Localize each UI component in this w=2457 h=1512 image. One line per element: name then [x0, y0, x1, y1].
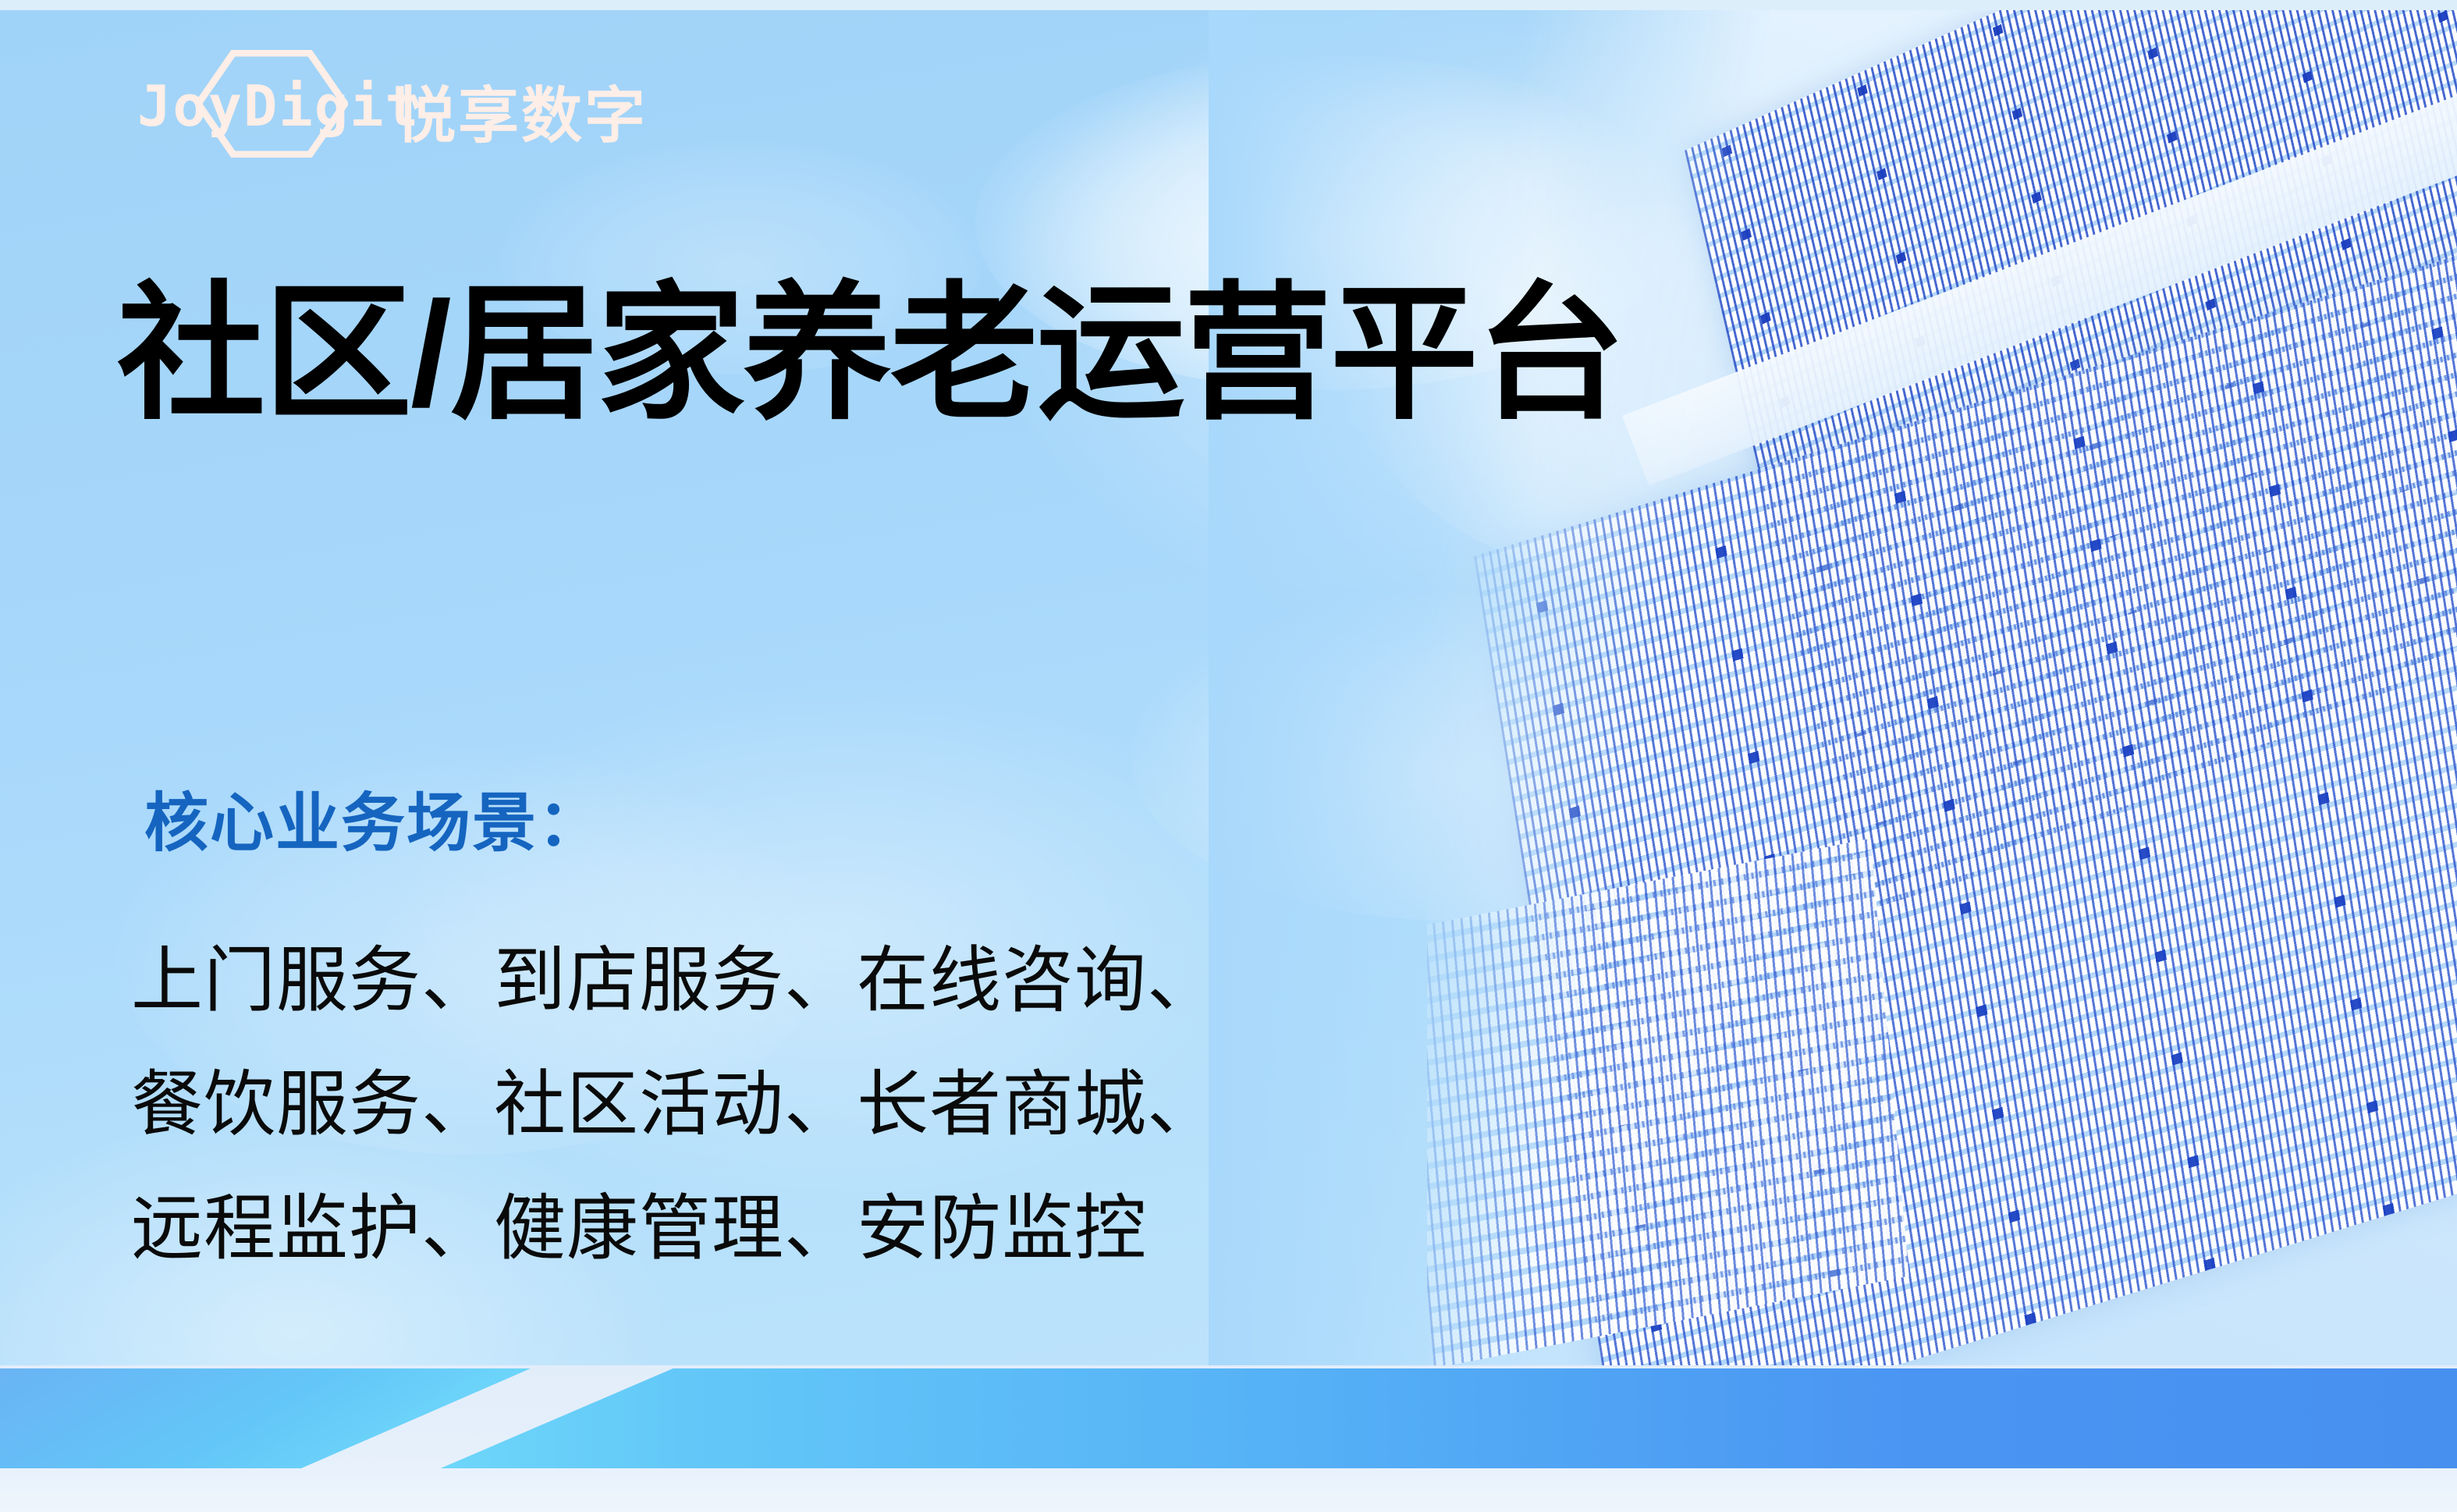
- scenario-line: 远程监护、健康管理、安防监控: [131, 1167, 1220, 1291]
- logo-latin-text: JoyDigit: [137, 73, 421, 139]
- logo-chinese-text: 悦享数字: [395, 67, 648, 154]
- building-photo: [1427, 10, 2457, 1372]
- scenario-line: 上门服务、到店服务、在线咨询、: [131, 919, 1220, 1043]
- brand-logo[interactable]: JoyDigit 悦享数字: [137, 61, 668, 148]
- footer-band-main: [343, 1368, 2457, 1468]
- scenario-list: 上门服务、到店服务、在线咨询、 餐饮服务、社区活动、长者商城、 远程监护、健康管…: [131, 919, 1220, 1291]
- top-edge-strip: [0, 0, 2457, 10]
- slide-root: JoyDigit 悦享数字 社区/居家养老运营平台 核心业务场景： 上门服务、到…: [0, 0, 2457, 1512]
- page-title: 社区/居家养老运营平台: [117, 275, 1624, 435]
- section-heading: 核心业务场景：: [144, 771, 603, 864]
- skyscraper-podium: [1427, 839, 1909, 1368]
- scenario-line: 餐饮服务、社区活动、长者商城、: [131, 1043, 1220, 1167]
